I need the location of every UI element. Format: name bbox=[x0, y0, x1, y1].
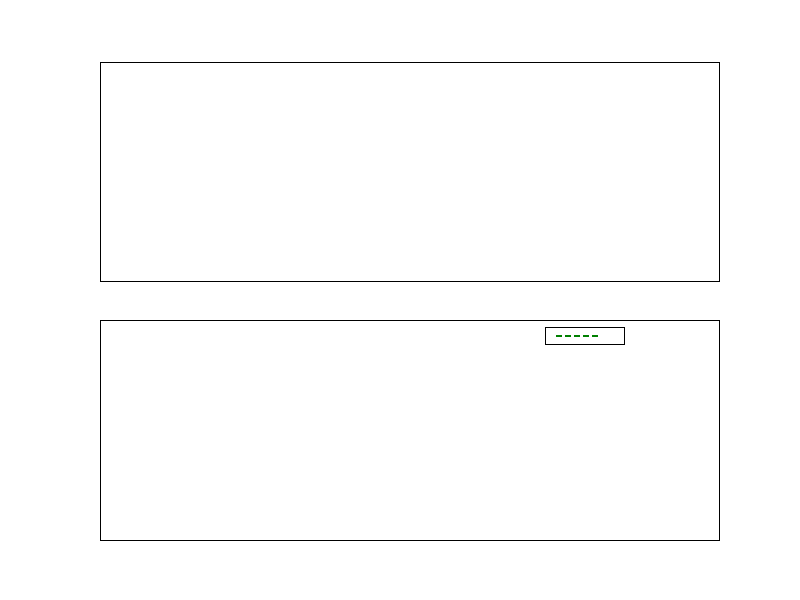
top-axes-histogram bbox=[100, 62, 720, 282]
top-plot-area bbox=[101, 63, 719, 281]
bottom-axes-cumulative bbox=[100, 320, 720, 541]
legend bbox=[545, 327, 625, 345]
cumulative-curve-svg bbox=[101, 321, 719, 540]
bottom-plot-area bbox=[101, 321, 719, 540]
mag-limit-legend-swatch bbox=[556, 335, 598, 337]
figure-canvas bbox=[0, 0, 800, 600]
